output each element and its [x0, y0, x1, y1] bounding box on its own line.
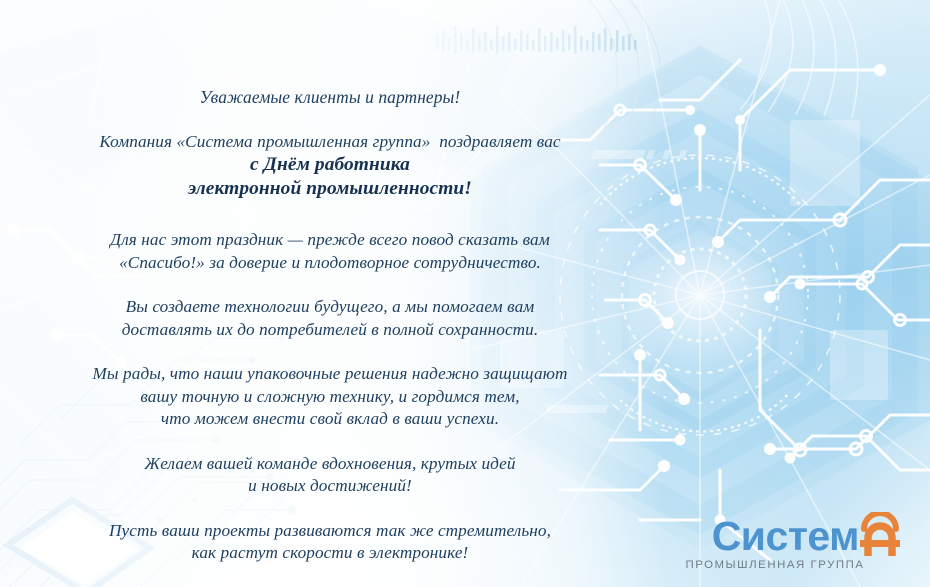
- paragraph-technologies: Вы создаете технологии будущего, а мы по…: [0, 296, 660, 341]
- message-line: Вы создаете технологии будущего, а мы по…: [0, 296, 660, 319]
- logo-tagline: ПРОМЫШЛЕННАЯ ГРУППА: [652, 559, 902, 571]
- message-line: «Спасибо!» за доверие и плодотворное сот…: [0, 252, 660, 275]
- headline-line: с Днём работника: [0, 153, 660, 177]
- paragraph-spacer: [0, 446, 660, 453]
- paragraph-projects: Пусть ваши проекты развиваются так же ст…: [0, 520, 660, 565]
- message-line: Пусть ваши проекты развиваются так же ст…: [0, 520, 660, 543]
- paragraph-spacer: [0, 356, 660, 363]
- message-line: Желаем вашей команде вдохновения, крутых…: [0, 453, 660, 476]
- company-logo[interactable]: Систем ПРОМЫШЛЕННАЯ ГРУППА: [652, 512, 902, 571]
- paragraph-packaging: Мы рады, что наши упаковочные решения на…: [0, 363, 660, 431]
- paragraph-thanks: Для нас этот праздник — прежде всего пов…: [0, 229, 660, 274]
- paragraph-greeting: Уважаемые клиенты и партнеры!: [0, 86, 660, 109]
- message-line: Уважаемые клиенты и партнеры!: [0, 86, 660, 109]
- paragraph-spacer: [0, 289, 660, 296]
- logo-wordmark-row: Систем: [652, 512, 902, 556]
- paragraph-wishes: Желаем вашей команде вдохновения, крутых…: [0, 453, 660, 498]
- paragraph-spacer: [0, 124, 660, 131]
- greeting-message: Уважаемые клиенты и партнеры! Компания «…: [0, 86, 660, 587]
- message-line: что можем внести свой вклад в ваши успех…: [0, 408, 660, 431]
- paragraph-spacer: [0, 580, 660, 587]
- headline-line: электронной промышленности!: [0, 177, 660, 201]
- paragraph-spacer: [0, 513, 660, 520]
- paragraph-spacer: [0, 216, 660, 229]
- message-line: Для нас этот праздник — прежде всего пов…: [0, 229, 660, 252]
- logo-orange-a-icon: [856, 512, 902, 556]
- greeting-card: Уважаемые клиенты и партнеры! Компания «…: [0, 0, 930, 587]
- logo-wordmark: Систем: [712, 517, 859, 556]
- paragraph-congratulation: Компания «Система промышленная группа» п…: [0, 131, 660, 202]
- message-line: вашу точную и сложную технику, и гордимс…: [0, 386, 660, 409]
- message-line: доставлять их до потребителей в полной с…: [0, 319, 660, 342]
- message-line: как растут скорости в электронике!: [0, 542, 660, 565]
- message-line: Мы рады, что наши упаковочные решения на…: [0, 363, 660, 386]
- message-line: Компания «Система промышленная группа» п…: [0, 131, 660, 154]
- message-line: и новых достижений!: [0, 475, 660, 498]
